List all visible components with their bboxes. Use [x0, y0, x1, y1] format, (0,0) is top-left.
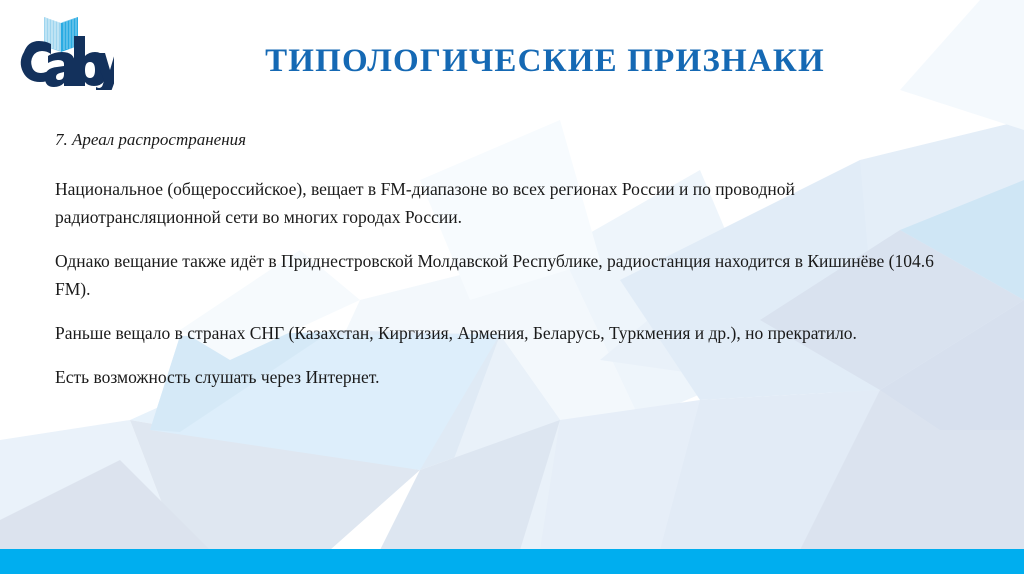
list-item-heading: 7. Ареал распространения	[55, 126, 965, 154]
bottom-accent-bar	[0, 549, 1024, 574]
paragraph-cis: Раньше вещало в странах СНГ (Казахстан, …	[55, 319, 965, 347]
paragraph-transnistria: Однако вещание также идёт в Приднестровс…	[55, 247, 965, 303]
paragraph-internet: Есть возможность слушать через Интернет.	[55, 363, 965, 391]
paragraph-coverage: Национальное (общероссийское), вещает в …	[55, 175, 965, 231]
logo-graphic	[14, 8, 114, 90]
page-title: ТИПОЛОГИЧЕСКИЕ ПРИЗНАКИ	[150, 42, 940, 80]
logo-tick	[66, 80, 75, 83]
slide-header: ТИПОЛОГИЧЕСКИЕ ПРИЗНАКИ	[0, 0, 1024, 108]
logo	[14, 8, 114, 90]
presentation-slide: ТИПОЛОГИЧЕСКИЕ ПРИЗНАКИ 7. Ареал распрос…	[0, 0, 1024, 574]
slide-body: 7. Ареал распространения Национальное (о…	[55, 126, 965, 391]
